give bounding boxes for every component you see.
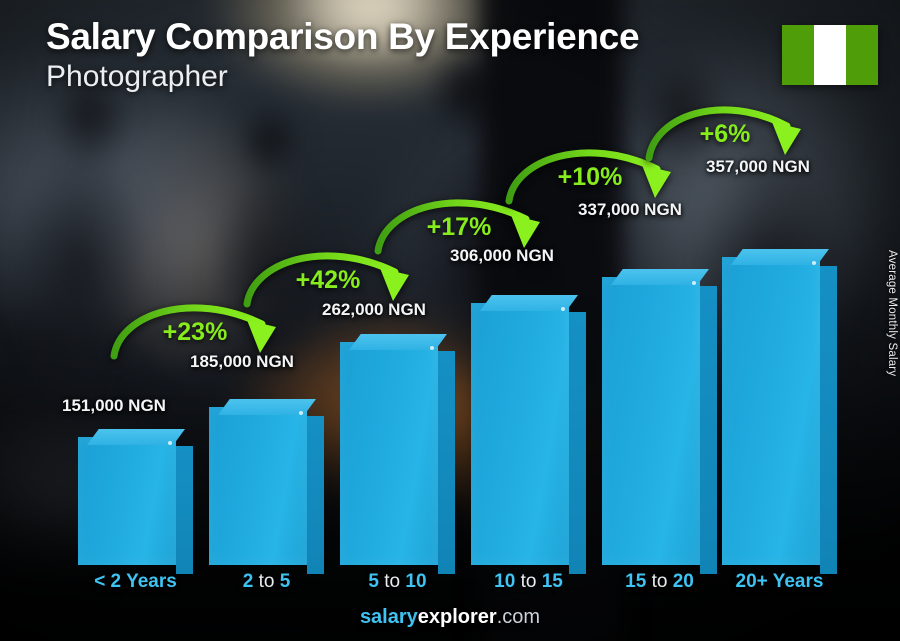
bar-2[interactable] bbox=[209, 407, 307, 565]
bar-side-face bbox=[176, 446, 193, 574]
bar-side-face bbox=[438, 351, 455, 574]
bar-highlight-dot bbox=[692, 281, 696, 285]
bar-side-face bbox=[569, 312, 586, 574]
footer-brand-explorer: explorer bbox=[418, 606, 497, 628]
chart-screenshot: Salary Comparison By Experience Photogra… bbox=[0, 0, 900, 641]
growth-arrow-2: +42% bbox=[243, 248, 413, 310]
growth-arrow-5: +6% bbox=[645, 102, 805, 164]
x-axis-label-6: 20+ Years bbox=[722, 571, 837, 593]
bar-value-label-1: 151,000 NGN bbox=[62, 396, 166, 416]
bar-chart-plot: 151,000 NGN< 2 Years185,000 NGN2 to 5262… bbox=[0, 0, 900, 641]
x-axis-label-1: < 2 Years bbox=[78, 571, 193, 593]
bar-front-face bbox=[471, 303, 569, 565]
footer-brand-tld: .com bbox=[497, 606, 540, 628]
bar-1[interactable] bbox=[78, 437, 176, 565]
bar-4[interactable] bbox=[471, 303, 569, 565]
site-footer[interactable]: salaryexplorer.com bbox=[0, 606, 900, 629]
bar-side-face bbox=[820, 266, 837, 574]
growth-percent-label-1: +23% bbox=[163, 318, 228, 347]
x-axis-label-3: 5 to 10 bbox=[340, 571, 455, 593]
growth-percent-label-5: +6% bbox=[700, 120, 751, 149]
bar-front-face bbox=[209, 407, 307, 565]
x-axis-label-4: 10 to 15 bbox=[471, 571, 586, 593]
growth-percent-label-3: +17% bbox=[427, 213, 492, 242]
bar-side-face bbox=[700, 286, 717, 574]
x-axis-label-5: 15 to 20 bbox=[602, 571, 717, 593]
growth-percent-label-4: +10% bbox=[558, 163, 623, 192]
bar-highlight-dot bbox=[168, 441, 172, 445]
growth-percent-label-2: +42% bbox=[296, 266, 361, 295]
bar-front-face bbox=[340, 342, 438, 565]
bar-front-face bbox=[78, 437, 176, 565]
x-axis-label-2: 2 to 5 bbox=[209, 571, 324, 593]
bar-highlight-dot bbox=[430, 346, 434, 350]
bar-highlight-dot bbox=[299, 411, 303, 415]
bar-side-face bbox=[307, 416, 324, 574]
bar-3[interactable] bbox=[340, 342, 438, 565]
bar-highlight-dot bbox=[812, 261, 816, 265]
bar-front-face bbox=[602, 277, 700, 565]
bar-front-face bbox=[722, 257, 820, 565]
footer-brand-salary: salary bbox=[360, 606, 418, 628]
bar-highlight-dot bbox=[561, 307, 565, 311]
bar-5[interactable] bbox=[602, 277, 700, 565]
bar-6[interactable] bbox=[722, 257, 820, 565]
